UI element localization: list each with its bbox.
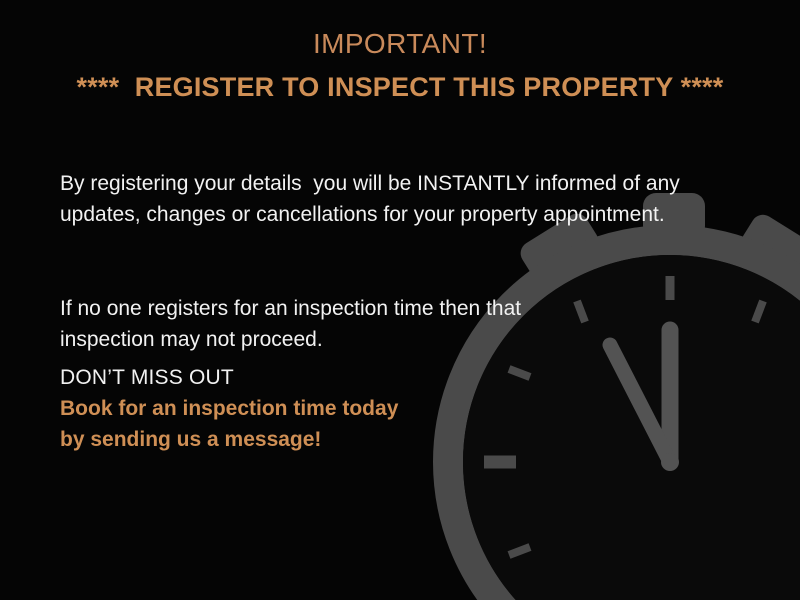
call-to-action-block: DON’T MISS OUT Book for an inspection ti…: [60, 362, 520, 455]
poster-content: IMPORTANT! **** REGISTER TO INSPECT THIS…: [0, 0, 800, 600]
headline-important: IMPORTANT!: [0, 26, 800, 61]
cta-dont-miss-out: DON’T MISS OUT: [60, 362, 520, 393]
cta-book-inspection: Book for an inspection time today: [60, 393, 520, 424]
headline-block: IMPORTANT! **** REGISTER TO INSPECT THIS…: [0, 26, 800, 105]
paragraph-registering-details: By registering your details you will be …: [60, 168, 720, 230]
paragraph-no-one-registers: If no one registers for an inspection ti…: [60, 293, 580, 355]
cta-send-message: by sending us a message!: [60, 424, 520, 455]
headline-register-to-inspect: **** REGISTER TO INSPECT THIS PROPERTY *…: [0, 71, 800, 105]
poster-canvas: IMPORTANT! **** REGISTER TO INSPECT THIS…: [0, 0, 800, 600]
